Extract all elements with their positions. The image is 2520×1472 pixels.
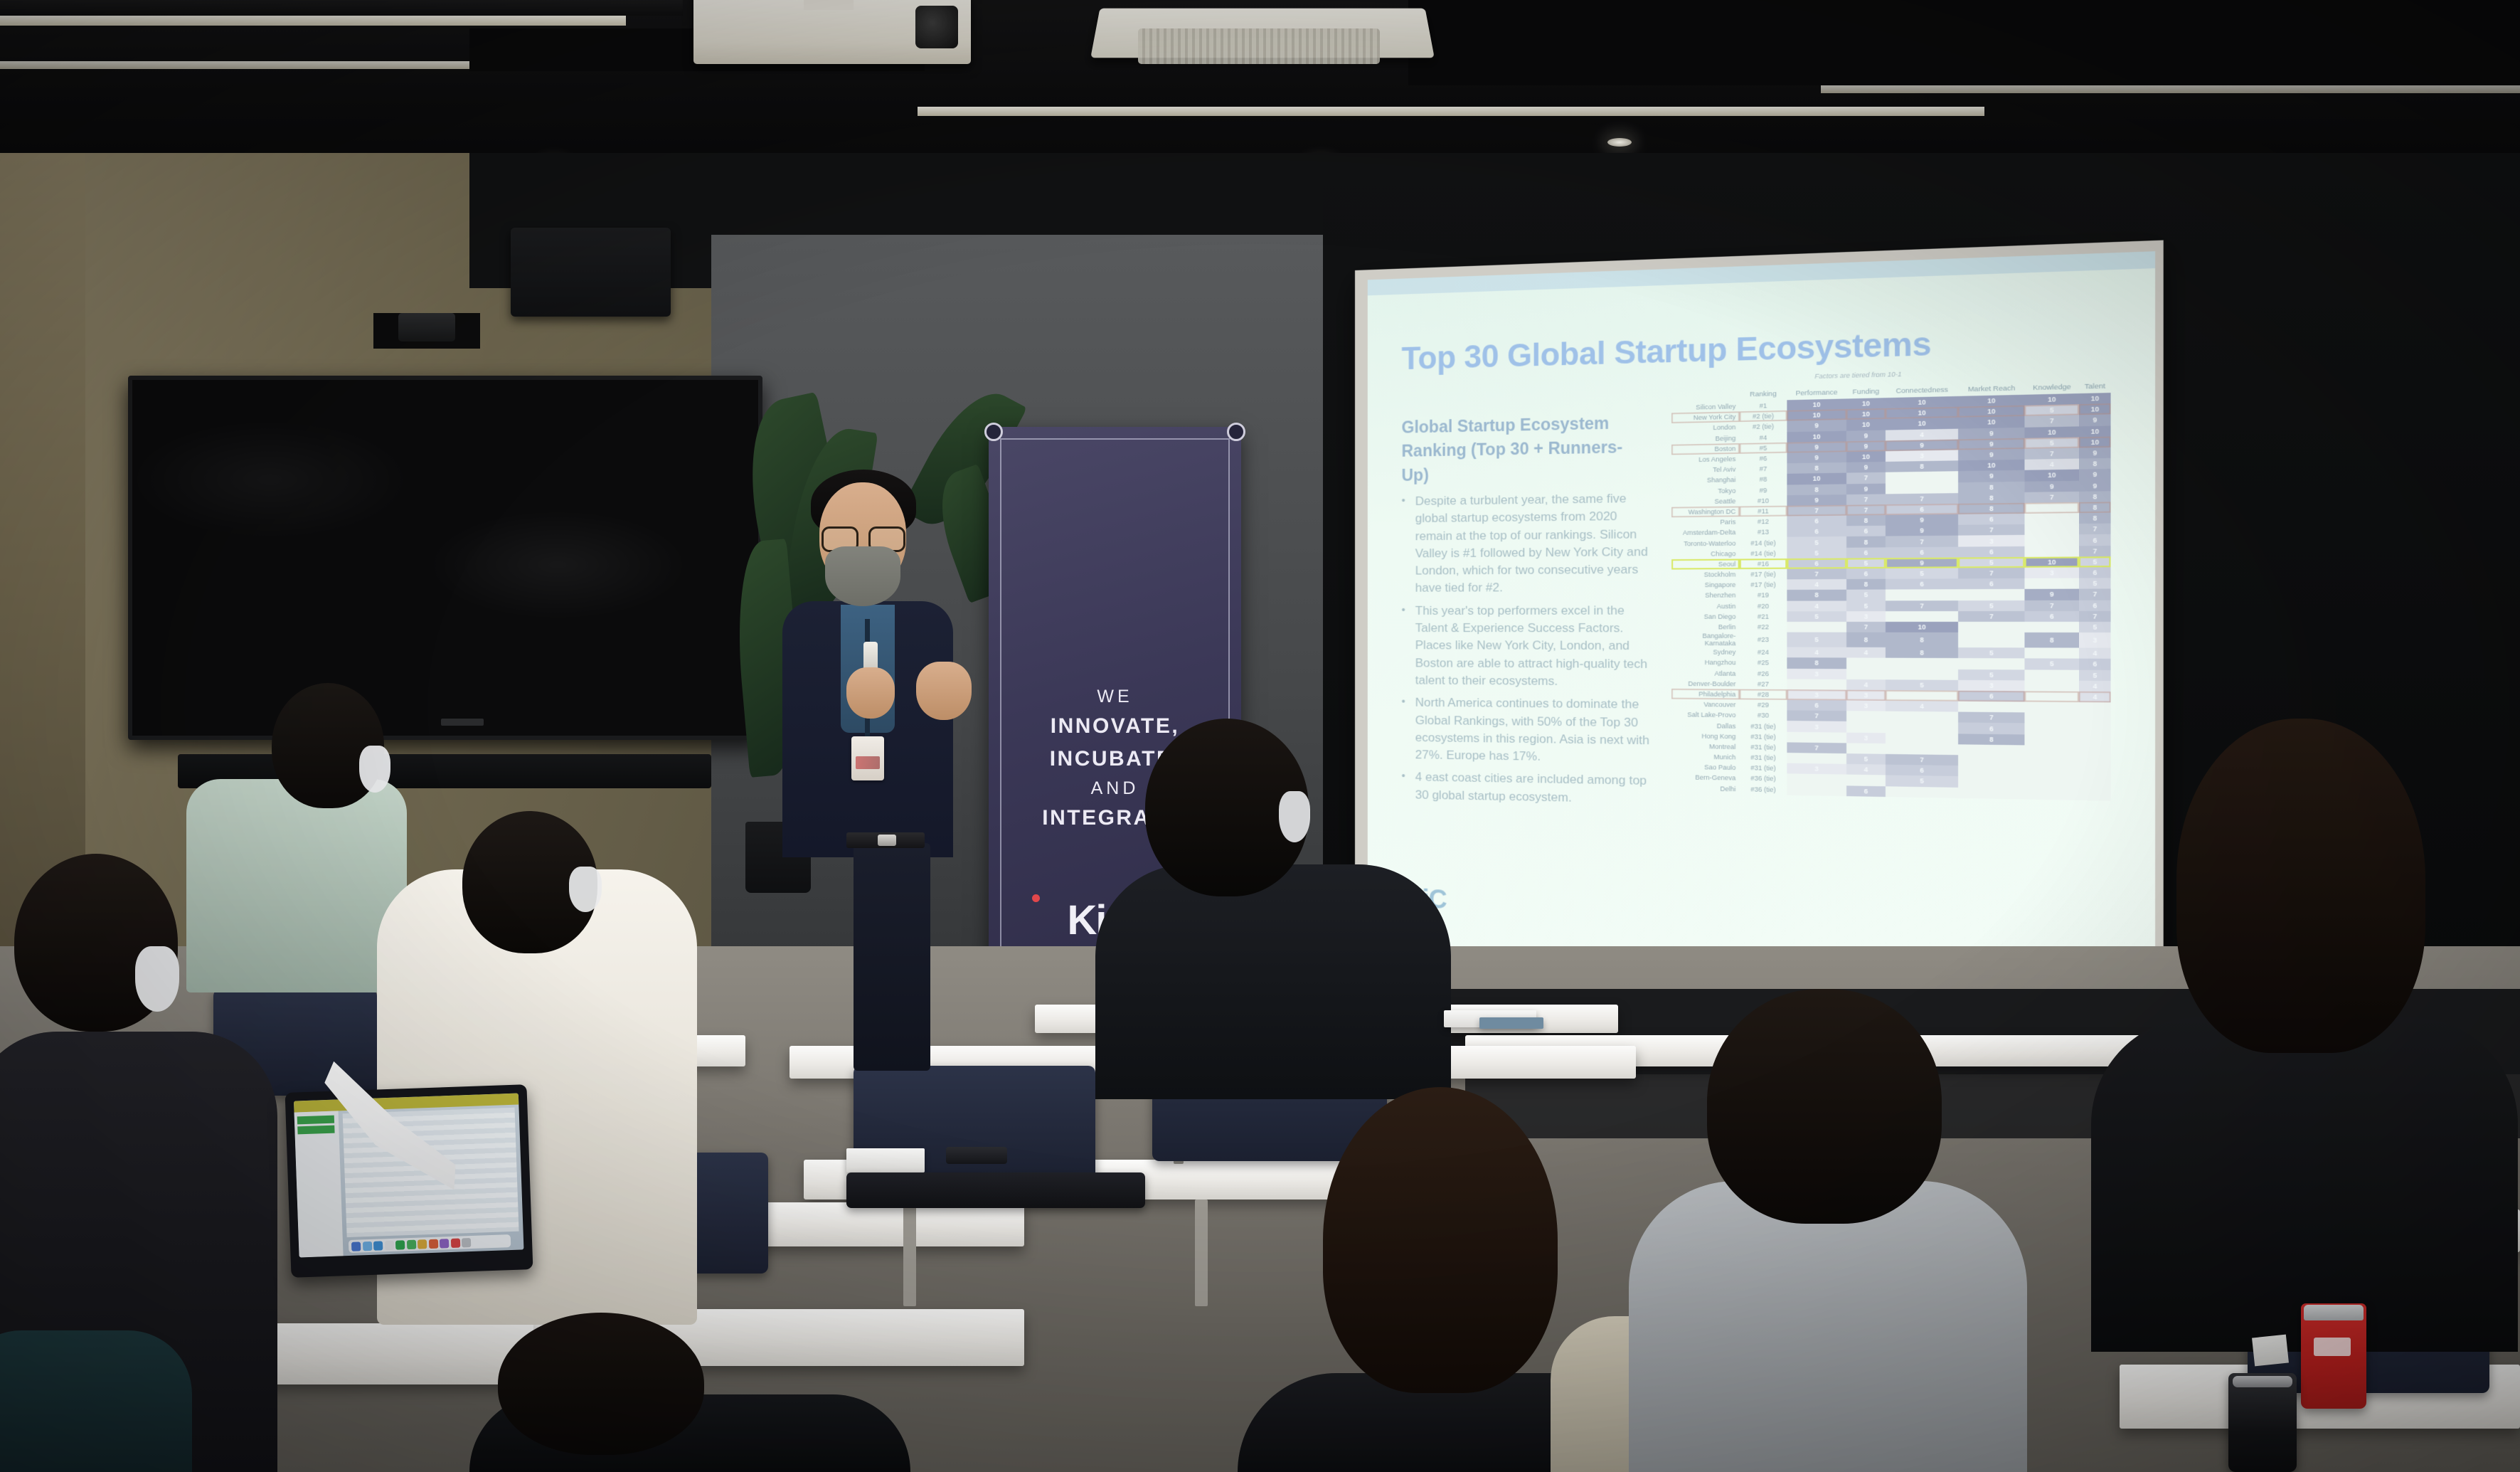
table-row: Bangalore-Karnataka#2358883 [1671, 632, 2110, 648]
table-cell-rank: #36 (tie) [1740, 783, 1787, 795]
table-cell-score: 6 [2025, 611, 2079, 622]
table-cell-score: 4 [1787, 647, 1846, 658]
table-cell-city: Austin [1671, 600, 1740, 611]
ceiling-light-strip [918, 107, 1984, 116]
table-cell-score: 6 [2079, 600, 2110, 610]
table-cell-score: 3 [1846, 611, 1886, 622]
table-cell-score: 5 [1787, 632, 1846, 647]
table-cell-city: Singapore [1671, 580, 1740, 591]
table-cell-rank: #14 (tie) [1740, 548, 1787, 558]
table-cell-score: 3 [1958, 680, 2024, 692]
table-cell-score: 7 [2079, 524, 2110, 535]
table-cell-city: Los Angeles [1671, 454, 1740, 465]
table-cell-rank: #31 (tie) [1740, 731, 1787, 743]
table-cell-score: 5 [1787, 611, 1846, 622]
table-cell-score: 4 [1787, 600, 1846, 611]
table-cell-rank: #28 [1740, 689, 1787, 700]
laptop-screen [294, 1094, 523, 1258]
table-cell-score: 8 [1787, 657, 1846, 668]
table-cell-score: 8 [1958, 734, 2024, 745]
table-cell-score: 3 [1958, 535, 2024, 546]
table-cell-city: Seoul [1671, 558, 1740, 569]
table-cell-rank: #2 (tie) [1740, 411, 1787, 422]
slide-bullet-list: •Despite a turbulent year, the same five… [1402, 489, 1657, 813]
bullet-text: North America continues to dominate the … [1415, 694, 1657, 768]
id-badge [851, 736, 884, 780]
audience-torso [2091, 1017, 2518, 1352]
table-cell-score: 6 [1846, 526, 1886, 536]
projection-screen[interactable]: Top 30 Global Startup Ecosystems Global … [1368, 251, 2155, 978]
table-cell-city: Bangalore-Karnataka [1671, 632, 1740, 647]
table-cell-city: Washington DC [1671, 506, 1740, 517]
face-mask [825, 546, 900, 606]
table-cell-city: Atlanta [1671, 668, 1740, 679]
table-cell-score [2079, 746, 2110, 757]
table-cell-rank: #1 [1740, 400, 1787, 411]
table-cell-score [2025, 535, 2079, 546]
audience-head [1323, 1087, 1558, 1393]
wall-mounted-display[interactable] [128, 376, 762, 740]
table-cell-score: 4 [1886, 701, 1958, 712]
table-cell-score: 8 [1886, 632, 1958, 647]
table-cell-city: Sydney [1671, 647, 1740, 657]
table-cell-score: 3 [1787, 763, 1846, 775]
display-brand-mark [441, 719, 484, 726]
table-cell-score: 9 [2079, 448, 2110, 459]
table-cell-rank: #7 [1740, 463, 1787, 475]
slide-bullet: •This year's top performers excel in the… [1402, 602, 1657, 691]
table-cell-score: 7 [1787, 711, 1846, 722]
table-cell-score: 7 [2025, 492, 2079, 503]
table-cell-score: 6 [1958, 723, 2024, 734]
table-cell-score: 6 [1787, 558, 1846, 568]
table-cell-score: 9 [1846, 430, 1886, 441]
open-laptop[interactable] [285, 1084, 533, 1278]
table-cell-rank: #2 (tie) [1740, 421, 1787, 433]
table-cell-score: 4 [2079, 680, 2110, 692]
table-cell-score [1787, 774, 1846, 785]
table-cell-score: 10 [2025, 393, 2079, 406]
table-cell-city: Toronto-Waterloo [1671, 538, 1740, 549]
table-cell-score [1886, 482, 1958, 494]
face-mask [135, 946, 179, 1012]
table-cell-score: 6 [1846, 568, 1886, 579]
laptop-sidebar-highlight [297, 1126, 334, 1135]
table-cell-rank: #12 [1740, 517, 1787, 527]
audience-head [498, 1313, 704, 1455]
table-cell-score: 6 [1846, 785, 1886, 797]
table-cell-score: 4 [2025, 459, 2079, 470]
table-cell-score: 6 [1787, 700, 1846, 711]
table-cell-score [2025, 778, 2079, 789]
table-cell-rank: #8 [1740, 474, 1787, 485]
table-cell-score [2025, 647, 2079, 658]
table-cell-score: 7 [1846, 472, 1886, 484]
notebook [846, 1148, 925, 1172]
table-cell-score [1886, 658, 1958, 669]
dock-icon[interactable] [395, 1240, 405, 1249]
table-cell-score [1886, 472, 1958, 484]
travel-tumbler[interactable] [2228, 1373, 2297, 1472]
table-cell-city: Berlin [1671, 622, 1740, 632]
table-cell-city: Tel Aviv [1671, 464, 1740, 475]
table-cell-score: 7 [1886, 493, 1958, 504]
table-cell-city: Dallas [1671, 720, 1740, 731]
table-cell-score: 5 [2025, 404, 2079, 416]
table-cell-score: 9 [1846, 483, 1886, 494]
table-cell-score: 7 [1886, 600, 1958, 611]
table-cell-city: Paris [1671, 517, 1740, 528]
table-cell-score: 10 [2025, 470, 2079, 481]
table-cell-score: 9 [1787, 494, 1846, 506]
table-cell-score: 5 [1886, 775, 1958, 788]
table-cell-score: 5 [1958, 647, 2024, 658]
table-cell-score [2025, 680, 2079, 692]
table-row: San Diego#2153767 [1671, 611, 2110, 622]
table-cell-score [2079, 756, 2110, 768]
face-mask [569, 867, 602, 912]
table-cell-score: 5 [1886, 568, 1958, 579]
table-cell-score: 9 [1886, 557, 1958, 568]
table-cell-score [1787, 785, 1846, 796]
audience-torso [0, 1330, 192, 1472]
table-cell-score [1958, 589, 2024, 600]
table-cell-score: 10 [1958, 416, 2024, 428]
table-cell-score: 10 [2025, 556, 2079, 568]
table-cell-rank: #20 [1740, 600, 1787, 611]
slide-title: Top 30 Global Startup Ecosystems [1402, 326, 1932, 377]
dock-icon[interactable] [362, 1241, 371, 1250]
table-cell-rank: #6 [1740, 452, 1787, 464]
banner-line-we: WE [989, 683, 1241, 710]
table-cell-score: 5 [2079, 669, 2110, 681]
bullet-dot-icon: • [1402, 603, 1405, 689]
table-cell-score [1787, 731, 1846, 743]
table-cell-score: 7 [2079, 611, 2110, 622]
table-cell-score [1886, 743, 1958, 755]
table-cell-score: 9 [1846, 440, 1886, 452]
table-cell-rank: #21 [1740, 611, 1787, 622]
table-cell-score: 7 [2079, 546, 2110, 557]
table-cell-score: 3 [1787, 721, 1846, 733]
kic-logo-dot-icon [1032, 894, 1040, 902]
table-cell-score [1886, 611, 1958, 622]
table-cell-score: 9 [1886, 514, 1958, 526]
table-cell-score [2079, 702, 2110, 714]
table-cell-score: 3 [1787, 689, 1846, 700]
table-cell-city: Salt Lake-Provo [1671, 709, 1740, 721]
table-cell-score: 10 [2079, 436, 2110, 448]
table-cell-score: 9 [1787, 441, 1846, 452]
table-cell-score: 8 [2079, 458, 2110, 470]
table-cell-score: 10 [1846, 408, 1886, 420]
table-cell-score [1846, 721, 1886, 733]
table-cell-score [1958, 755, 2024, 766]
table-cell-score [1846, 658, 1886, 669]
table-cell-score: 4 [2079, 648, 2110, 659]
projector-lens-icon [915, 6, 958, 48]
table-cell-score [1787, 622, 1846, 632]
table-cell-score: 5 [2079, 556, 2110, 568]
dock-icon[interactable] [384, 1240, 393, 1249]
table-cell-score: 8 [2079, 502, 2110, 513]
table-cell-score: 5 [1846, 590, 1886, 600]
table-cell-score: 3 [1846, 690, 1886, 701]
table-cell-score: 9 [1787, 420, 1846, 432]
table-note: Factors are tiered from 10-1 [1814, 371, 1901, 381]
table-cell-score: 7 [1958, 611, 2024, 622]
table-cell-score: 10 [1846, 419, 1886, 430]
table-cell-score: 10 [1846, 451, 1886, 462]
table-cell-score [1886, 690, 1958, 701]
dock-icon[interactable] [428, 1239, 437, 1248]
table-column-header: Knowledge [2025, 383, 2079, 395]
table-cell-score: 10 [2079, 393, 2110, 404]
table-cell-city: Philadelphia [1671, 689, 1740, 699]
table-cell-score: 6 [1787, 526, 1846, 538]
tablet-device[interactable] [846, 1172, 1145, 1208]
table-cell-score: 5 [1846, 753, 1886, 765]
video-camera-icon [398, 313, 455, 341]
table-cell-city: Tokyo [1671, 485, 1740, 497]
table-cell-city: Denver-Boulder [1671, 678, 1740, 689]
bullet-dot-icon: • [1402, 694, 1405, 764]
table-cell-score [2025, 788, 2079, 800]
table-cell-rank: #36 (tie) [1740, 773, 1787, 785]
table-cell-score: 6 [1958, 691, 2024, 702]
table-cell-score: 5 [2025, 437, 2079, 449]
table-cell-score: 4 [1787, 579, 1846, 590]
table-cell-rank: #9 [1740, 485, 1787, 496]
table-cell-score: 6 [1958, 514, 2024, 525]
table-cell-score [1958, 744, 2024, 756]
table-cell-rank: #4 [1740, 432, 1787, 443]
soda-can[interactable] [2301, 1303, 2366, 1409]
table-cell-rank: #17 (tie) [1740, 569, 1787, 580]
table-column-header: Funding [1846, 387, 1886, 398]
table-cell-score: 9 [1958, 438, 2024, 450]
table-cell-score [2025, 502, 2079, 514]
table-cell-rank: #26 [1740, 668, 1787, 679]
table-cell-rank: #10 [1740, 495, 1787, 507]
table-cell-score: 8 [1958, 481, 2024, 492]
table-cell-score: 7 [1787, 505, 1846, 517]
table-cell-score: 10 [2079, 425, 2110, 437]
table-cell-score [2025, 546, 2079, 557]
table-cell-score [2025, 622, 2079, 632]
presenter-belt [846, 832, 925, 848]
table-cell-score: 6 [2079, 534, 2110, 546]
wall-speaker [511, 228, 671, 317]
table-cell-score: 5 [2025, 659, 2079, 670]
table-cell-score: 6 [2079, 567, 2110, 578]
table-cell-score [1886, 722, 1958, 734]
face-mask [359, 746, 390, 793]
table-cell-score: 10 [1958, 460, 2024, 472]
table-cell-rank: #30 [1740, 710, 1787, 721]
laptop-dock [349, 1234, 511, 1253]
dock-icon[interactable] [373, 1241, 383, 1250]
table-cell-score [1886, 786, 1958, 798]
table-body: Silicon Valley#1101010101010New York Cit… [1671, 393, 2110, 800]
table-cell-city: Montreal [1671, 741, 1740, 752]
table-cell-score: 4 [1846, 679, 1886, 690]
table-cell-score: 3 [1886, 450, 1958, 462]
table-cell-score: 9 [2079, 480, 2110, 492]
table-cell-score [1958, 787, 2024, 799]
table-cell-score: 10 [2025, 426, 2079, 438]
table-cell-score [1846, 711, 1886, 721]
table-cell-city: Hong Kong [1671, 731, 1740, 742]
dock-icon[interactable] [406, 1239, 415, 1249]
slide-bullet: •North America continues to dominate the… [1402, 694, 1657, 768]
table-cell-rank: #17 (tie) [1740, 580, 1787, 591]
table-cell-rank: #13 [1740, 526, 1787, 537]
table-cell-score: 10 [1787, 409, 1846, 421]
downlight-icon [1607, 138, 1632, 147]
table-cell-city: Chicago [1671, 549, 1740, 559]
table-cell-score: 7 [2025, 600, 2079, 610]
table-cell-score: 7 [1886, 536, 1958, 547]
smartphone[interactable] [946, 1147, 1007, 1164]
ceiling-light-strip [0, 14, 626, 26]
table-cell-score [1958, 776, 2024, 788]
table-cell-score: 8 [1787, 484, 1846, 495]
table-cell-city: Hangzhou [1671, 657, 1740, 668]
audience-torso [1095, 864, 1451, 1099]
table-cell-score: 3 [2025, 567, 2079, 578]
table-cell-city: Seattle [1671, 496, 1740, 507]
table-cell-score: 7 [1958, 712, 2024, 724]
table-cell-score: 8 [1846, 536, 1886, 547]
table-cell-rank: #29 [1740, 699, 1787, 710]
table-cell-score: 3 [1787, 668, 1846, 679]
dock-icon[interactable] [440, 1239, 449, 1248]
ceiling-panel [1408, 0, 2520, 85]
table-cell-score [2025, 724, 2079, 735]
presenter-hand-left [846, 667, 895, 719]
table-cell-score [1846, 669, 1886, 679]
dock-icon[interactable] [450, 1238, 459, 1247]
table-cell-score [2079, 789, 2110, 800]
table-cell-score [2025, 756, 2079, 767]
table-cell-score: 7 [1846, 622, 1886, 632]
table-cell-city: Bern-Geneva [1671, 772, 1740, 783]
table-cell-score: 3 [1846, 732, 1886, 743]
table-cell-score [2079, 768, 2110, 779]
table-cell-score: 6 [1886, 765, 1958, 777]
projector-mount [804, 0, 854, 10]
table-cell-score [1958, 766, 2024, 778]
table-cell-city: Shanghai [1671, 475, 1740, 486]
dock-icon[interactable] [462, 1238, 471, 1247]
table-cell-score: 9 [1886, 439, 1958, 451]
table-cell-score: 5 [1846, 600, 1886, 611]
table-cell-score: 8 [2079, 513, 2110, 524]
dock-icon[interactable] [351, 1241, 361, 1251]
table-cell-rank: #22 [1740, 622, 1787, 632]
table-cell-score: 7 [1787, 568, 1846, 579]
name-card [2252, 1335, 2289, 1367]
table-cell-score: 9 [1958, 470, 2024, 482]
table-cell-city: Munich [1671, 751, 1740, 763]
table-cell-city: Amsterdam-Delta [1671, 527, 1740, 539]
table-cell-score [1886, 669, 1958, 680]
table-cell-score: 5 [1787, 547, 1846, 558]
table-cell-score: 5 [2079, 578, 2110, 589]
dock-icon[interactable] [418, 1239, 427, 1249]
desk-leg [1195, 1200, 1208, 1306]
table-cell-score: 7 [1958, 568, 2024, 579]
slide-bullet: •Despite a turbulent year, the same five… [1402, 489, 1657, 597]
ranking-table-wrap: Factors are tiered from 10-1 RankingPerf… [1671, 382, 2110, 800]
table-cell-rank: #27 [1740, 679, 1787, 689]
audience-torso [186, 779, 407, 992]
table-cell-score [1958, 622, 2024, 632]
ceiling-panel [0, 0, 683, 16]
table-cell-score: 7 [2025, 448, 2079, 460]
table-cell-score: 8 [1787, 462, 1846, 474]
table-cell-score: 9 [2025, 480, 2079, 492]
bullet-text: Despite a turbulent year, the same five … [1415, 489, 1657, 597]
table-cell-score: 10 [2079, 403, 2110, 415]
table-cell-rank: #19 [1740, 590, 1787, 600]
table-cell-rank: #14 (tie) [1740, 537, 1787, 548]
table-cell-score: 9 [1958, 449, 2024, 461]
bullet-dot-icon: • [1402, 493, 1405, 598]
table-cell-score: 4 [1846, 764, 1886, 775]
table-cell-score [1886, 711, 1958, 723]
table-cell-score: 6 [1886, 578, 1958, 589]
table-cell-score: 8 [1846, 515, 1886, 526]
table-cell-score: 7 [1846, 494, 1886, 505]
table-cell-score [1958, 701, 2024, 713]
table-cell-rank: #11 [1740, 506, 1787, 517]
face-mask [1279, 791, 1310, 842]
table-cell-city: Vancouver [1671, 699, 1740, 711]
table-cell-score [2025, 745, 2079, 756]
table-cell-score: 5 [1886, 679, 1958, 691]
table-cell-city: Boston [1671, 443, 1740, 455]
table-cell-score: 6 [1958, 546, 2024, 557]
table-cell-score [2025, 691, 2079, 702]
table-cell-rank: #31 (tie) [1740, 741, 1787, 753]
slide-bullet: •4 east coast cities are included among … [1402, 768, 1657, 808]
table-cell-score: 6 [1886, 546, 1958, 558]
table-cell-score: 8 [1787, 590, 1846, 600]
table-cell-score [2025, 524, 2079, 535]
table-row: Berlin#227105 [1671, 622, 2110, 632]
table-cell-rank: #16 [1740, 558, 1787, 569]
document-page [1479, 1017, 1543, 1029]
table-cell-score: 9 [2079, 415, 2110, 426]
table-cell-score [2025, 701, 2079, 713]
table-cell-city: Delhi [1671, 783, 1740, 794]
table-cell-rank: #5 [1740, 443, 1787, 454]
desk-leg [903, 1200, 916, 1306]
glasses-icon [822, 526, 905, 548]
table-cell-score: 4 [2079, 692, 2110, 703]
table-cell-rank: #24 [1740, 647, 1787, 657]
table-cell-score [2025, 669, 2079, 681]
table-cell-score: 6 [1958, 578, 2024, 590]
table-cell-score: 9 [1846, 462, 1886, 473]
table-cell-score: 10 [1787, 430, 1846, 442]
table-cell-score: 3 [2079, 632, 2110, 648]
lecture-room-scene: WE INNOVATE, INCUBATE, AND INTEGRATE. Ki… [0, 0, 2520, 1472]
bullet-text: 4 east coast cities are included among t… [1415, 769, 1657, 808]
audience-head [1707, 989, 1942, 1224]
